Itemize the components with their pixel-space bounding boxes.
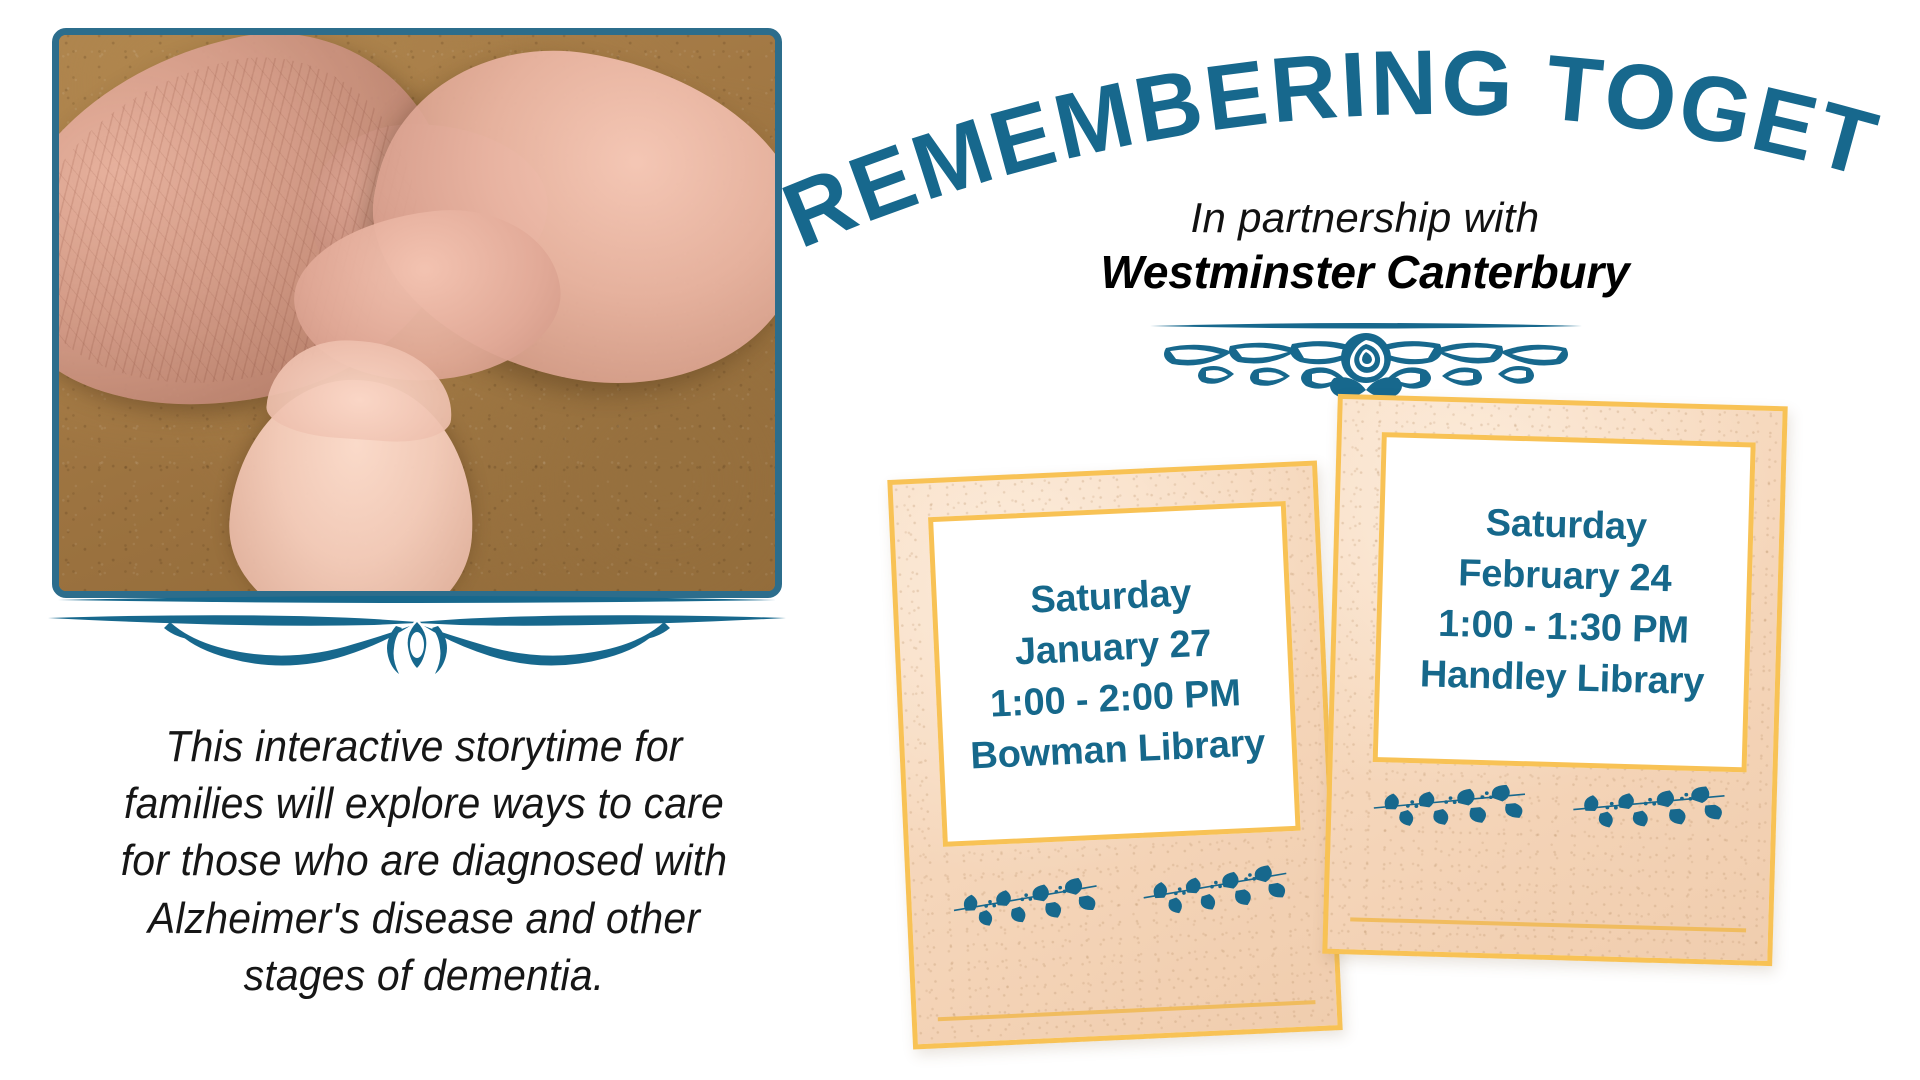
description-line: Alzheimer's disease and other [52,890,796,947]
event-card-handley[interactable]: Saturday February 24 1:00 - 1:30 PM Hand… [1322,394,1787,966]
partner-name: Westminster Canterbury [1055,246,1675,299]
generations-hands-photo [52,28,782,598]
leaf-sprig-ornament-icon [1365,774,1748,839]
event-location: Handley Library [1419,649,1705,708]
event-card-window: Saturday January 27 1:00 - 2:00 PM Bowma… [928,501,1301,847]
card-baseline-rule [1350,917,1746,932]
flyer-canvas: This interactive storytime for families … [0,0,1920,1080]
event-card-bowman[interactable]: Saturday January 27 1:00 - 2:00 PM Bowma… [887,461,1342,1050]
description-line: This interactive storytime for [52,718,796,775]
card-baseline-rule [938,1000,1316,1021]
event-date: February 24 [1422,547,1708,606]
description-text: This interactive storytime for families … [52,718,796,1004]
event-card-details: Saturday February 24 1:00 - 1:30 PM Hand… [1411,496,1717,708]
description-line: for those who are diagnosed with [52,832,796,889]
event-card-details: Saturday January 27 1:00 - 2:00 PM Bowma… [954,565,1274,783]
event-time: 1:00 - 1:30 PM [1421,598,1707,657]
ornate-flourish-divider-icon [44,592,790,674]
photo-canvas [59,35,775,591]
description-line: families will explore ways to care [52,775,796,832]
leaf-sprig-ornament-icon [944,860,1310,930]
partnership-block: In partnership with Westminster Canterbu… [1055,196,1675,299]
description-line: stages of dementia. [52,947,796,1004]
partnership-prefix: In partnership with [1055,196,1675,240]
event-card-window: Saturday February 24 1:00 - 1:30 PM Hand… [1373,432,1756,772]
event-day: Saturday [1424,496,1710,555]
